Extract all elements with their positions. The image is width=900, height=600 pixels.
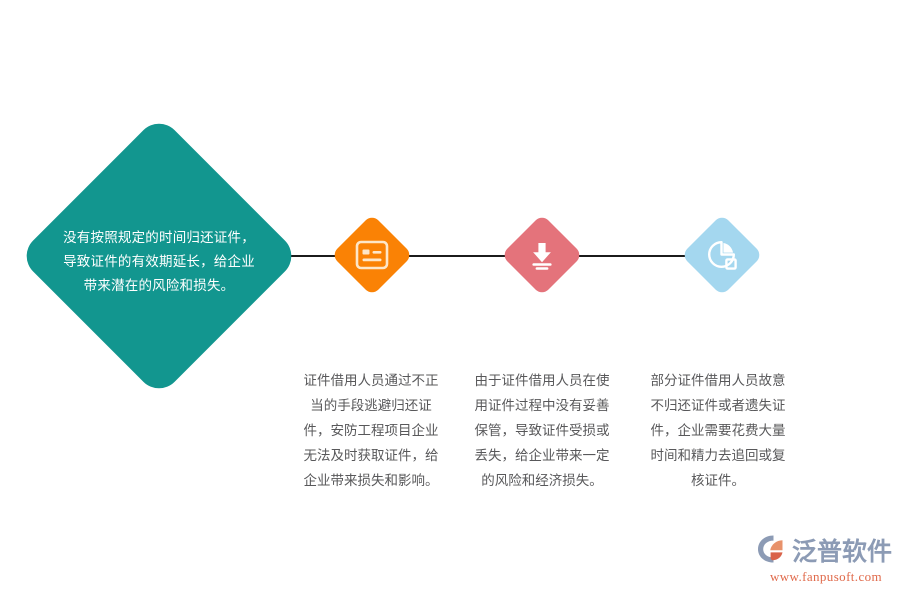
node-description-2: 由于证件借用人员在使用证件过程中没有妥善保管，导致证件受损或丢失，给企业带来一定…: [474, 368, 610, 493]
diagram-canvas: 没有按照规定的时间归还证件， 导致证件的有效期延长，给企业 带来潜在的风险和损失…: [0, 0, 900, 600]
connector-line-2: [398, 255, 516, 257]
node-description-3: 部分证件借用人员故意不归还证件或者遗失证件，企业需要花费大量时间和精力去追回或复…: [650, 368, 786, 493]
logo-title: 泛普软件: [792, 537, 892, 567]
id-card-icon: [330, 213, 414, 297]
pie-chart-icon: [680, 213, 764, 297]
node-description-1: 证件借用人员通过不正当的手段逃避归还证件，安防工程项目企业无法及时获取证件，给企…: [303, 368, 439, 493]
brand-logo: 泛普软件 www.fanpusoft.com: [756, 534, 896, 590]
connector-line-3: [568, 255, 696, 257]
download-icon: [500, 213, 584, 297]
hero-diamond-label: 没有按照规定的时间归还证件， 导致证件的有效期延长，给企业 带来潜在的风险和损失…: [24, 226, 294, 298]
logo-url: www.fanpusoft.com: [756, 569, 896, 585]
fanpu-logo-icon: [756, 534, 790, 569]
